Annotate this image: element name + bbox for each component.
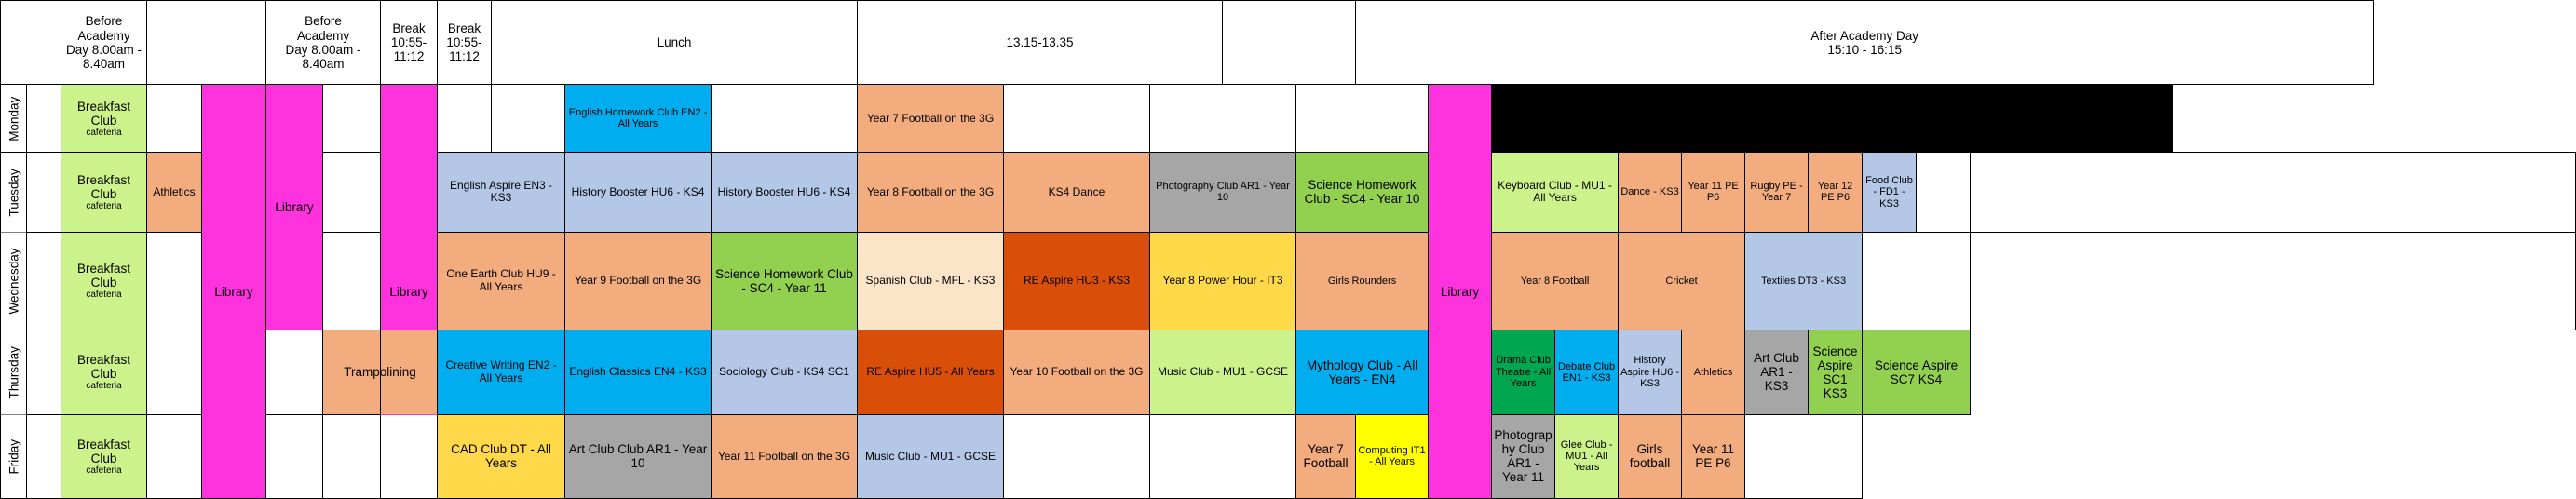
cell-friday-empty-5[interactable] — [1150, 414, 1296, 498]
table-row: Thursday Breakfast Club cafeteria Trampo… — [1, 330, 2576, 414]
cell-monday-english-homework[interactable]: English Homework Club EN2 - All Years — [565, 85, 712, 153]
cell-tuesday-photography-club[interactable]: Photography Club AR1 - Year 10 — [1150, 153, 1296, 233]
cell-tuesday-empty-2[interactable] — [1917, 153, 1971, 233]
cell-monday-after-academy-closed — [1492, 85, 2173, 153]
cell-sub-location: cafeteria — [63, 465, 144, 476]
header-row: Before Academy Day 8.00am - 8.40am Befor… — [1, 1, 2576, 85]
spacer-friday — [27, 414, 61, 498]
header-before-academy-2: Before Academy Day 8.00am - 8.40am — [266, 1, 381, 85]
header-break-1: Break 10:55-11:12 — [381, 1, 438, 85]
header-lunch: Lunch — [492, 1, 858, 85]
cell-tuesday-breakfast[interactable]: Breakfast Club cafeteria — [61, 153, 147, 233]
cell-monday-breakfast[interactable]: Breakfast Club cafeteria — [61, 85, 147, 153]
cell-friday-year11-pe[interactable]: Year 11 PE P6 — [1682, 414, 1745, 498]
cell-tuesday-year11-pe[interactable]: Year 11 PE P6 — [1682, 153, 1745, 233]
day-label-monday: Monday — [1, 85, 27, 153]
cell-monday-year7-football[interactable]: Year 7 Football on the 3G — [858, 85, 1004, 153]
cell-thursday-science-aspire-ks4[interactable]: Science Aspire SC7 KS4 — [1863, 330, 1971, 414]
cell-wednesday-textiles[interactable]: Textiles DT3 - KS3 — [1745, 232, 1863, 330]
cell-friday-art-club[interactable]: Art Club Club AR1 - Year 10 — [565, 414, 712, 498]
cell-monday-empty-2[interactable] — [323, 85, 381, 153]
cell-tuesday-rugby-pe[interactable]: Rugby PE - Year 7 — [1745, 153, 1809, 233]
cell-friday-empty-6[interactable] — [1745, 414, 1863, 498]
cell-monday-empty-7[interactable] — [1150, 85, 1296, 153]
cell-friday-empty-1[interactable] — [147, 414, 202, 498]
cell-thursday-creative-writing[interactable]: Creative Writing EN2 - All Years — [438, 330, 565, 414]
cell-thursday-debate-club[interactable]: Debate Club EN1 - KS3 — [1555, 330, 1619, 414]
cell-thursday-music-club[interactable]: Music Club - MU1 - GCSE — [1150, 330, 1296, 414]
header-break-2: Break 10:55-11:12 — [438, 1, 492, 85]
cell-friday-girls-football[interactable]: Girls football — [1619, 414, 1682, 498]
cell-thursday-athletics[interactable]: Athletics — [1682, 330, 1745, 414]
cell-wednesday-re-aspire[interactable]: RE Aspire HU3 - KS3 — [1004, 232, 1150, 330]
day-label-thursday: Thursday — [1, 330, 27, 414]
cell-thursday-empty-1[interactable] — [147, 330, 202, 414]
cell-sub-location: cafeteria — [63, 128, 144, 138]
cell-wednesday-empty-2[interactable] — [323, 232, 381, 330]
cell-thursday-science-aspire-ks3[interactable]: Science Aspire SC1 KS3 — [1809, 330, 1863, 414]
cell-sub-location: cafeteria — [63, 201, 144, 211]
cell-tuesday-athletics[interactable]: Athletics — [147, 153, 202, 233]
header-corner — [1, 1, 61, 85]
cell-tuesday-ks4-dance[interactable]: KS4 Dance — [1004, 153, 1150, 233]
cell-sub-location: cafeteria — [63, 290, 144, 300]
cell-wednesday-empty-1[interactable] — [147, 232, 202, 330]
cell-tuesday-food-club[interactable]: Food Club - FD1 - KS3 — [1863, 153, 1917, 233]
cell-friday-glee-club[interactable]: Glee Club - MU1 - All Years — [1555, 414, 1619, 498]
cell-friday-music-club[interactable]: Music Club - MU1 - GCSE — [858, 414, 1004, 498]
cell-friday-year11-football[interactable]: Year 11 Football on the 3G — [712, 414, 858, 498]
cell-wednesday-one-earth-club[interactable]: One Earth Club HU9 - All Years — [438, 232, 565, 330]
cell-friday-photography-club[interactable]: Photography Club AR1 - Year 11 — [1492, 414, 1555, 498]
cell-thursday-breakfast[interactable]: Breakfast Club cafeteria — [61, 330, 147, 414]
cell-thursday-drama-club[interactable]: Drama Club Theatre - All Years — [1492, 330, 1555, 414]
cell-wednesday-year8-power-hour[interactable]: Year 8 Power Hour - IT3 — [1150, 232, 1296, 330]
cell-wednesday-year9-football[interactable]: Year 9 Football on the 3G — [565, 232, 712, 330]
header-after-academy-day: After Academy Day 15:10 - 16:15 — [1356, 1, 2374, 85]
cell-monday-empty-3[interactable] — [438, 85, 492, 153]
cell-thursday-year10-football[interactable]: Year 10 Football on the 3G — [1004, 330, 1150, 414]
cell-library-col5[interactable]: Library — [266, 85, 323, 330]
cell-thursday-english-classics[interactable]: English Classics EN4 - KS3 — [565, 330, 712, 414]
cell-tuesday-dance-ks3[interactable]: Dance - KS3 — [1619, 153, 1682, 233]
timetable-sheet: Before Academy Day 8.00am - 8.40am Befor… — [0, 0, 2576, 499]
cell-thursday-history-aspire[interactable]: History Aspire HU6 - KS3 — [1619, 330, 1682, 414]
cell-wednesday-cricket[interactable]: Cricket — [1619, 232, 1745, 330]
cell-sub-location: cafeteria — [63, 381, 144, 391]
cell-thursday-mythology-club[interactable]: Mythology Club - All Years - EN4 — [1296, 330, 1429, 414]
day-label-wednesday: Wednesday — [1, 232, 27, 330]
cell-monday-empty-8[interactable] — [1296, 85, 1429, 153]
cell-wednesday-science-homework[interactable]: Science Homework Club - SC4 - Year 11 — [712, 232, 858, 330]
enrichment-timetable: Before Academy Day 8.00am - 8.40am Befor… — [0, 0, 2576, 499]
cell-tuesday-history-booster-2[interactable]: History Booster HU6 - KS4 — [712, 153, 858, 233]
cell-thursday-re-aspire[interactable]: RE Aspire HU5 - All Years — [858, 330, 1004, 414]
cell-monday-empty-6[interactable] — [1004, 85, 1150, 153]
cell-monday-empty-5[interactable] — [712, 85, 858, 153]
cell-tuesday-empty-3[interactable] — [1971, 153, 2576, 233]
cell-tuesday-year8-football[interactable]: Year 8 Football on the 3G — [858, 153, 1004, 233]
cell-wednesday-spanish-club[interactable]: Spanish Club - MFL - KS3 — [858, 232, 1004, 330]
cell-friday-empty-3[interactable] — [323, 414, 438, 498]
spacer-tuesday — [27, 153, 61, 233]
cell-tuesday-keyboard-club[interactable]: Keyboard Club - MU1 - All Years — [1492, 153, 1619, 233]
cell-monday-empty-4[interactable] — [492, 85, 565, 153]
spacer-thursday — [27, 330, 61, 414]
cell-friday-empty-4[interactable] — [1004, 414, 1150, 498]
day-label-tuesday: Tuesday — [1, 153, 27, 233]
header-afternoon-time: 13.15-13.35 — [858, 1, 1223, 85]
cell-thursday-sociology-club[interactable]: Sociology Club - KS4 SC1 — [712, 330, 858, 414]
cell-library-afterschool[interactable]: Library — [1429, 85, 1492, 499]
cell-tuesday-science-homework[interactable]: Science Homework Club - SC4 - Year 10 — [1296, 153, 1429, 233]
cell-wednesday-empty-3[interactable] — [1863, 232, 1971, 330]
cell-wednesday-empty-4[interactable] — [1971, 232, 2576, 330]
cell-thursday-empty-2[interactable] — [266, 330, 323, 414]
spacer-wednesday — [27, 232, 61, 330]
table-row: Friday Breakfast Club cafeteria CAD Club… — [1, 414, 2576, 498]
cell-wednesday-year8-football[interactable]: Year 8 Football — [1492, 232, 1619, 330]
cell-wednesday-girls-rounders[interactable]: Girls Rounders — [1296, 232, 1429, 330]
cell-thursday-trampolining[interactable]: Trampolining — [323, 330, 438, 414]
cell-friday-empty-2[interactable] — [266, 414, 323, 498]
cell-friday-year7-football[interactable]: Year 7 Football — [1296, 414, 1356, 498]
cell-thursday-art-club[interactable]: Art Club AR1 - KS3 — [1745, 330, 1809, 414]
header-before-academy-1: Before Academy Day 8.00am - 8.40am — [61, 1, 147, 85]
table-row: Monday Breakfast Club cafeteria Library … — [1, 85, 2576, 153]
header-gap-2 — [1223, 1, 1356, 85]
cell-tuesday-empty-1[interactable] — [323, 153, 381, 233]
spacer-monday — [27, 85, 61, 153]
cell-friday-cad-club[interactable]: CAD Club DT - All Years — [438, 414, 565, 498]
cell-library-col4[interactable]: Library — [202, 85, 266, 499]
cell-tuesday-history-booster-1[interactable]: History Booster HU6 - KS4 — [565, 153, 712, 233]
day-label-friday: Friday — [1, 414, 27, 498]
cell-tuesday-year12-pe[interactable]: Year 12 PE P6 — [1809, 153, 1863, 233]
header-gap-1 — [147, 1, 266, 85]
cell-wednesday-breakfast[interactable]: Breakfast Club cafeteria — [61, 232, 147, 330]
cell-monday-empty-1[interactable] — [147, 85, 202, 153]
cell-friday-computing[interactable]: Computing IT1 - All Years — [1356, 414, 1429, 498]
cell-friday-breakfast[interactable]: Breakfast Club cafeteria — [61, 414, 147, 498]
cell-tuesday-english-aspire[interactable]: English Aspire EN3 - KS3 — [438, 153, 565, 233]
